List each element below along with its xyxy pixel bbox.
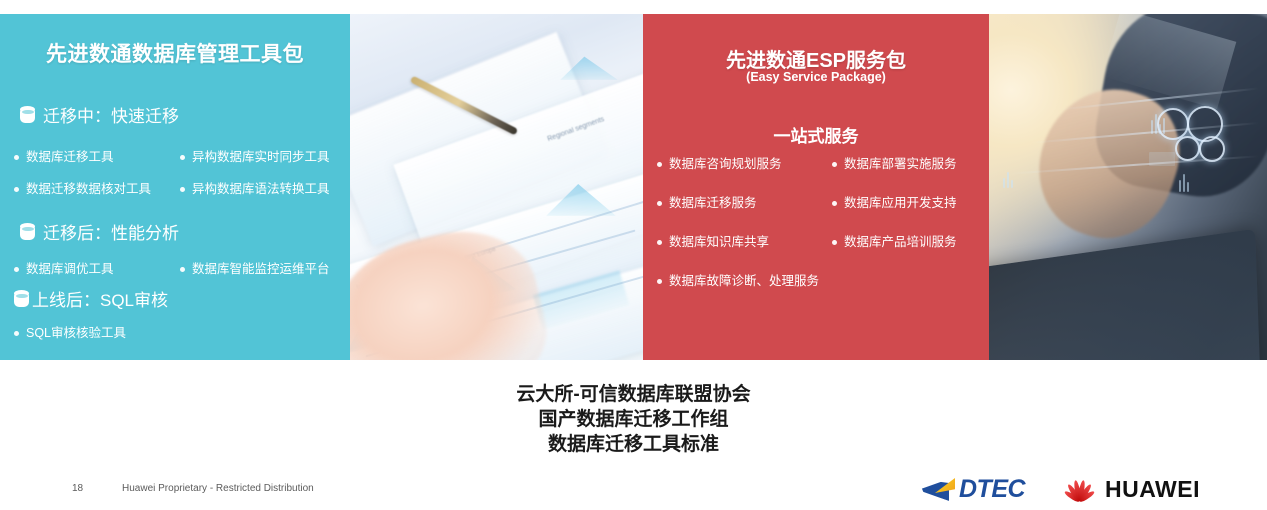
toolkit-panel: 先进数通数据库管理工具包 迁移中：快速迁移 数据库迁移工具 异构数据库实时同步工… [0, 14, 350, 360]
bullet-dot-icon [657, 279, 662, 284]
list-item-label: 异构数据库实时同步工具 [192, 150, 330, 165]
bullet-dot-icon [657, 240, 662, 245]
esp-panel-title: 先进数通ESP服务包 [643, 44, 989, 73]
tablet-touch-photo [989, 14, 1267, 360]
bullet-dot-icon [832, 162, 837, 167]
toolkit-panel-title: 先进数通数据库管理工具包 [0, 38, 350, 68]
esp-bullet-list: 数据库咨询规划服务 数据库部署实施服务 数据库迁移服务 数据库应用开发支持 数据… [657, 157, 989, 289]
huawei-flower-icon [1062, 476, 1096, 502]
list-item-label: 数据迁移数据核对工具 [26, 182, 151, 197]
dtec-wordmark: DTEC [959, 475, 1025, 504]
photo-data-bar [1011, 180, 1013, 188]
photo-tablet [989, 229, 1260, 360]
list-item-label: SQL审核核验工具 [26, 326, 126, 341]
bullet-dot-icon [180, 267, 185, 272]
bullet-list-after-golive: SQL审核核验工具 [14, 326, 350, 341]
huawei-logo: HUAWEI [1062, 474, 1200, 504]
dtec-arrow-icon [918, 476, 958, 502]
list-item-label: 异构数据库语法转换工具 [192, 182, 330, 197]
database-icon [20, 223, 35, 240]
bullet-dot-icon [14, 331, 19, 336]
caption-line-1: 云大所-可信数据库联盟协会 [0, 382, 1267, 407]
visual-band: 先进数通数据库管理工具包 迁移中：快速迁移 数据库迁移工具 异构数据库实时同步工… [0, 14, 1267, 360]
bullet-dot-icon [832, 240, 837, 245]
bullet-list-after-migration: 数据库调优工具 数据库智能监控运维平台 [14, 262, 350, 277]
esp-panel-subtitle: (Easy Service Package) [643, 70, 989, 84]
section-heading-label: 迁移中：快速迁移 [43, 102, 179, 127]
list-item: 数据库产品培训服务 [832, 235, 989, 250]
section-heading-label: 迁移后：性能分析 [43, 219, 179, 244]
list-item-label: 数据库咨询规划服务 [669, 157, 782, 172]
list-item-label: 数据库智能监控运维平台 [192, 262, 330, 277]
list-item: 异构数据库语法转换工具 [180, 182, 350, 197]
section-heading-migrating: 迁移中：快速迁移 [20, 102, 179, 127]
business-report-photo: Regional segments West Europe East Europ… [350, 14, 643, 360]
list-item: 数据库调优工具 [14, 262, 180, 277]
section-heading-after-golive: 上线后：SQL审核 [14, 286, 168, 311]
bullet-dot-icon [14, 187, 19, 192]
list-item-label: 数据库调优工具 [26, 262, 114, 277]
esp-service-panel: 先进数通ESP服务包 (Easy Service Package) 一站式服务 … [643, 14, 989, 360]
list-item: 数据库应用开发支持 [832, 196, 989, 211]
list-item-label: 数据库产品培训服务 [844, 235, 957, 250]
photo-data-ring [1157, 108, 1189, 140]
confidentiality-notice: Huawei Proprietary - Restricted Distribu… [122, 483, 314, 494]
bullet-dot-icon [832, 201, 837, 206]
photo-data-bar [1179, 180, 1181, 192]
section-heading-label: 上线后：SQL审核 [32, 286, 168, 311]
database-icon [20, 106, 35, 123]
list-item: 数据库智能监控运维平台 [180, 262, 350, 277]
list-item-label: 数据库迁移服务 [669, 196, 757, 211]
section-heading-after-migration: 迁移后：性能分析 [20, 219, 179, 244]
photo-data-bar [1159, 124, 1161, 134]
list-item: 数据库知识库共享 [657, 235, 832, 250]
photo-data-bar [1003, 178, 1005, 188]
dtec-logo: DTEC [918, 474, 1025, 504]
bullet-dot-icon [180, 155, 185, 160]
list-item: SQL审核核验工具 [14, 326, 214, 341]
list-item: 数据迁移数据核对工具 [14, 182, 180, 197]
list-item: 数据库迁移服务 [657, 196, 832, 211]
list-item-label: 数据库故障诊断、处理服务 [669, 274, 819, 289]
database-icon [14, 290, 29, 307]
photo-data-ring [1175, 136, 1200, 161]
bullet-dot-icon [14, 267, 19, 272]
esp-section-heading: 一站式服务 [643, 122, 989, 147]
slide-canvas: 先进数通数据库管理工具包 迁移中：快速迁移 数据库迁移工具 异构数据库实时同步工… [0, 0, 1267, 510]
bullet-dot-icon [14, 155, 19, 160]
list-item: 数据库咨询规划服务 [657, 157, 832, 172]
list-item: 数据库迁移工具 [14, 150, 180, 165]
photo-data-bar [1187, 182, 1189, 192]
bullet-dot-icon [657, 201, 662, 206]
list-item-label: 数据库部署实施服务 [844, 157, 957, 172]
photo-data-bar [1007, 172, 1009, 188]
list-item: 数据库故障诊断、处理服务 [657, 274, 957, 289]
list-item-label: 数据库应用开发支持 [844, 196, 957, 211]
caption-block: 云大所-可信数据库联盟协会 国产数据库迁移工作组 数据库迁移工具标准 [0, 382, 1267, 457]
huawei-wordmark: HUAWEI [1105, 476, 1200, 503]
caption-line-3: 数据库迁移工具标准 [0, 432, 1267, 457]
list-item: 数据库部署实施服务 [832, 157, 989, 172]
bullet-dot-icon [657, 162, 662, 167]
caption-line-2: 国产数据库迁移工作组 [0, 407, 1267, 432]
bullet-dot-icon [180, 187, 185, 192]
list-item: 异构数据库实时同步工具 [180, 150, 350, 165]
page-number: 18 [72, 483, 83, 494]
list-item-label: 数据库知识库共享 [669, 235, 769, 250]
photo-data-bar [1183, 174, 1185, 192]
bullet-list-migrating: 数据库迁移工具 异构数据库实时同步工具 数据迁移数据核对工具 异构数据库语法转换… [14, 150, 350, 197]
list-item-label: 数据库迁移工具 [26, 150, 114, 165]
